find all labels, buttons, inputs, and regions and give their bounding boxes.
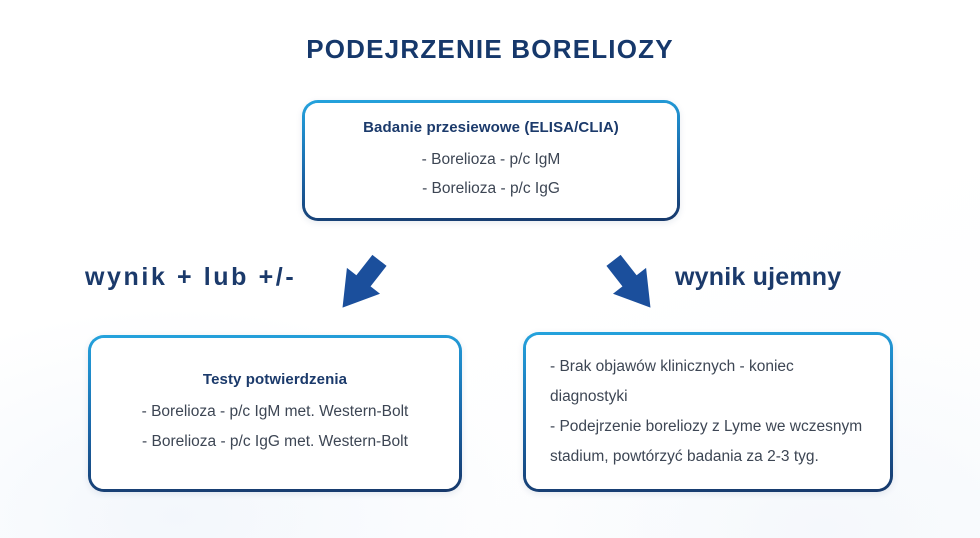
negative-result-box: - Brak objawów klinicznych - koniec diag… [523,332,893,492]
screening-test-line: - Borelioza - p/c IgM [422,145,561,174]
arrow-down-left-icon [325,248,397,325]
confirmation-tests-line: - Borelioza - p/c IgG met. Western-Bolt [142,427,408,457]
confirmation-tests-heading: Testy potwierdzenia [203,371,347,388]
confirmation-tests-line: - Borelioza - p/c IgM met. Western-Bolt [142,397,409,427]
flowchart-canvas: PODEJRZENIE BORELIOZY Badanie przesiewow… [0,0,980,538]
confirmation-tests-box-content: Testy potwierdzenia - Borelioza - p/c Ig… [91,338,459,489]
screening-test-box: Badanie przesiewowe (ELISA/CLIA) - Borel… [302,100,680,221]
negative-result-line: - Brak objawów klinicznych - koniec diag… [550,352,866,412]
screening-test-line: - Borelioza - p/c IgG [422,174,560,203]
page-title: PODEJRZENIE BORELIOZY [0,34,980,65]
arrow-down-right-icon [596,248,668,325]
confirmation-tests-box: Testy potwierdzenia - Borelioza - p/c Ig… [88,335,462,492]
branch-label-positive: wynik + lub +/- [85,263,296,292]
screening-test-heading: Badanie przesiewowe (ELISA/CLIA) [363,119,619,136]
negative-result-box-content: - Brak objawów klinicznych - koniec diag… [526,335,890,489]
screening-test-box-content: Badanie przesiewowe (ELISA/CLIA) - Borel… [305,103,677,218]
branch-label-negative: wynik ujemny [675,263,841,292]
negative-result-line: - Podejrzenie boreliozy z Lyme we wczesn… [550,412,866,472]
